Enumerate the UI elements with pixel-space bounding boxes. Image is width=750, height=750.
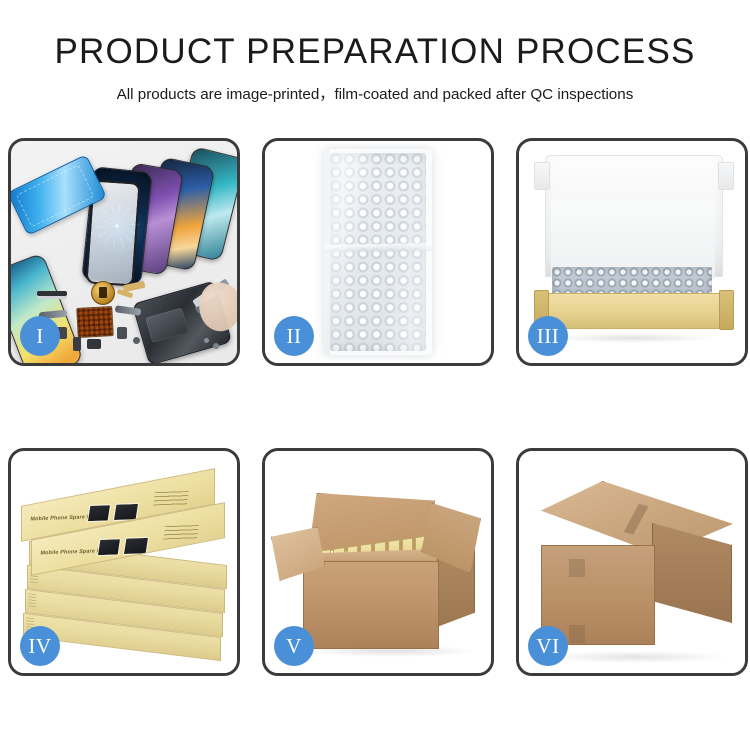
part-small <box>117 327 127 339</box>
sealed-carton-side <box>652 523 732 623</box>
step-panel-3[interactable]: III <box>516 138 748 366</box>
retail-box-textlines <box>163 525 199 540</box>
part-small <box>73 337 81 351</box>
step-panel-4[interactable]: Mobile Phone Spare Parts Mobile Phone Sp… <box>8 448 240 676</box>
carton-handle-tab <box>569 625 585 643</box>
carton-front-panel <box>303 561 439 649</box>
step-badge-6: VI <box>528 626 568 666</box>
drop-shadow <box>545 651 725 663</box>
step-panel-5[interactable]: V <box>262 448 494 676</box>
step-panel-6[interactable]: VI <box>516 448 748 676</box>
bubble-wrap-package-image <box>324 149 432 355</box>
retail-box-artwork <box>113 503 139 521</box>
drop-shadow <box>307 645 475 657</box>
header: PRODUCT PREPARATION PROCESS All products… <box>0 0 750 104</box>
step-badge-4: IV <box>20 626 60 666</box>
wrap-highlight <box>324 149 432 355</box>
page-title: PRODUCT PREPARATION PROCESS <box>0 34 750 71</box>
chip-grid-image <box>76 306 114 338</box>
step-badge-2: II <box>274 316 314 356</box>
screw <box>133 337 140 344</box>
carton-handle-tab <box>569 559 585 577</box>
retail-box-artwork <box>97 538 121 556</box>
retail-box-textlines <box>153 491 189 506</box>
drop-shadow <box>553 333 713 343</box>
step-badge-3: III <box>528 316 568 356</box>
mailer-box-front <box>545 293 723 329</box>
product-preparation-infographic: PRODUCT PREPARATION PROCESS All products… <box>0 0 750 750</box>
retail-box-artwork <box>87 504 111 522</box>
retail-box-artwork <box>123 537 149 555</box>
screw <box>213 343 219 349</box>
page-subtitle: All products are image-printed，film-coat… <box>0 82 750 104</box>
gold-coin-part-icon <box>91 281 115 305</box>
part-small <box>87 339 101 349</box>
step-panel-1[interactable]: I <box>8 138 240 366</box>
screw <box>204 338 209 343</box>
step-badge-5: V <box>274 626 314 666</box>
step-badge-1: I <box>20 316 60 356</box>
part-strip <box>37 291 67 296</box>
step-panel-2[interactable]: II <box>262 138 494 366</box>
process-steps-grid: I II III <box>8 138 742 676</box>
